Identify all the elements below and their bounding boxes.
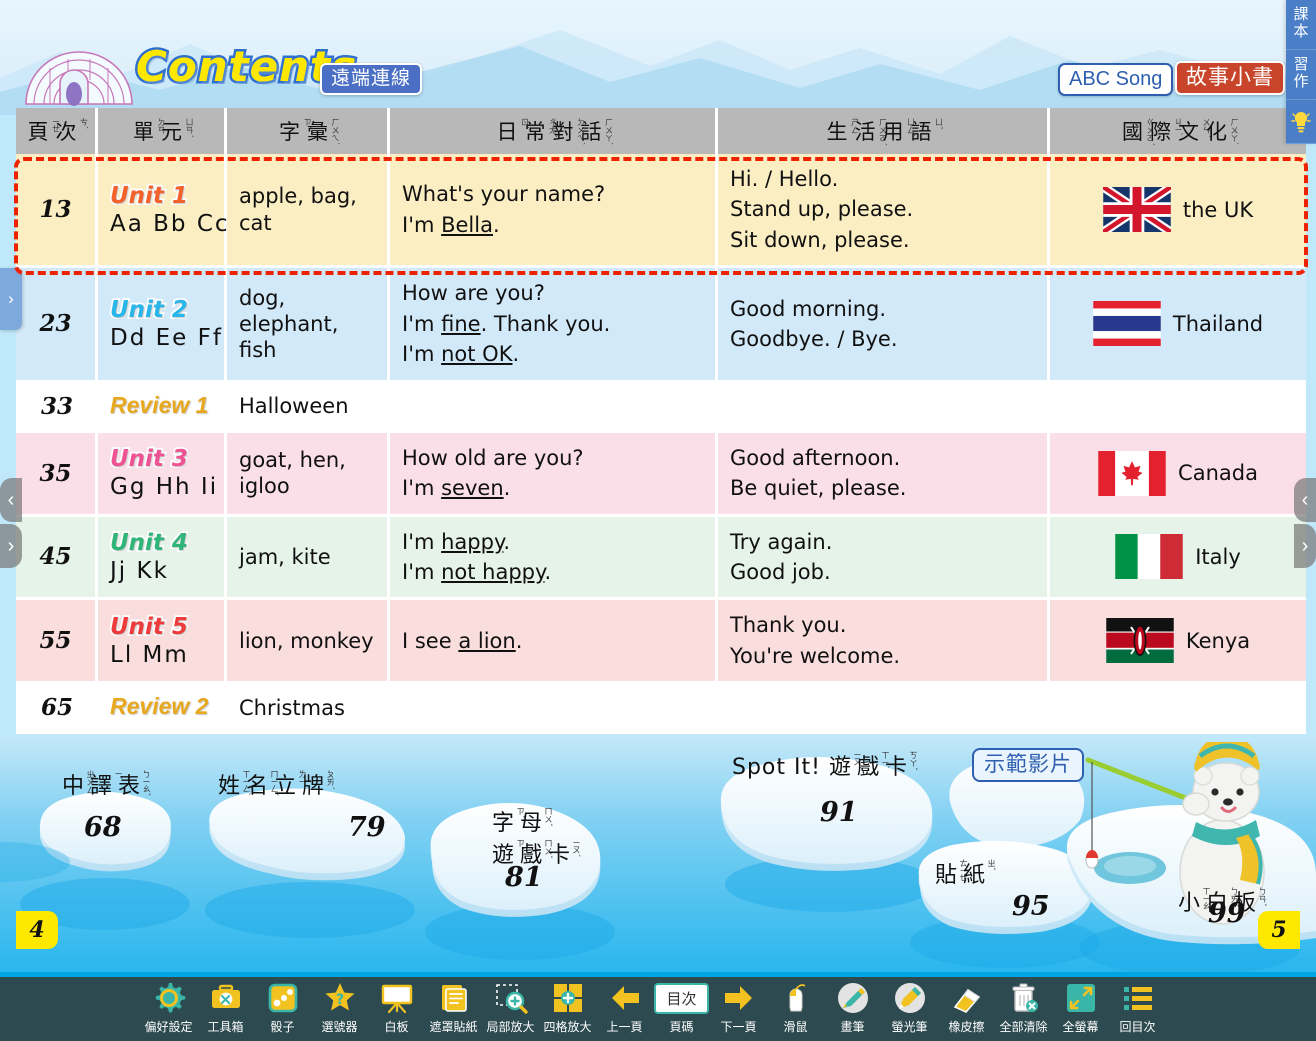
row-unit-cell: Unit 1Aa Bb Cc <box>98 154 227 265</box>
igloo-logo <box>20 18 138 110</box>
sidebar-tab-hint[interactable] <box>1286 100 1316 144</box>
toolbar-button-quad-zoom[interactable]: 四格放大 <box>539 977 596 1035</box>
flag-italy-icon <box>1115 534 1183 579</box>
row-dialogue: How are you?I'm fine. Thank you.I'm not … <box>390 268 718 379</box>
floe-page-number: 81 <box>505 862 543 893</box>
row-unit-name: Review 2 <box>98 684 227 731</box>
next-page-arrow-right[interactable]: › <box>1294 524 1316 568</box>
table-column-header-6: 國ㄍㄨㄛˊ際ㄐㄧˋ文ㄨㄣˊ化ㄏㄨㄚˋ <box>1050 108 1306 154</box>
row-page-number: 55 <box>16 600 98 681</box>
toolbar-button-label: 上一頁 <box>606 1018 642 1035</box>
row-dialogue: I see a lion. <box>390 600 718 681</box>
toolbar-button-label: 白板 <box>384 1018 408 1035</box>
toolbar-button-highlighter[interactable]: 螢光筆 <box>881 977 938 1035</box>
floe-page-number: 95 <box>1012 891 1050 922</box>
fullscreen-icon <box>1064 981 1098 1015</box>
toolbar-button-label: 橡皮擦 <box>948 1018 984 1035</box>
toolbar-button-list[interactable]: 回目次 <box>1109 977 1166 1035</box>
toolbar-button-label: 回目次 <box>1119 1018 1155 1035</box>
floe-label[interactable]: Spot It! 遊ㄧㄡˊ戲ㄒㄧˋ卡ㄎㄚˇ <box>732 749 913 781</box>
page-number-badge: 目次 <box>654 983 708 1014</box>
row-culture: Kenya <box>1050 600 1306 681</box>
toolbox-icon <box>209 980 243 1016</box>
corner-page-left: 4 <box>16 911 58 949</box>
table-row[interactable]: 33Review 1Halloween <box>16 383 1306 433</box>
story-book-button[interactable]: 故事小書 <box>1175 61 1285 95</box>
floe-label[interactable]: 字ㄗˋ母ㄇㄨˇ遊ㄗˋ戲ㄇㄨˇ卡ㄧㄡˊ <box>492 805 576 869</box>
row-vocabulary: apple, bag, cat <box>227 154 390 265</box>
table-column-header-5: 生ㄕㄥ活ㄏㄨㄛˊ用ㄩㄥˋ語ㄩˇ <box>718 108 1050 154</box>
toolbar-button-page-number[interactable]: 目次頁碼 <box>653 977 710 1035</box>
gear-icon <box>152 981 186 1015</box>
row-unit-cell: Unit 4Jj Kk <box>98 517 227 598</box>
page-canvas: Contents Contents 遠端連線 ABC Song 故事小書 頁ㄧㄝ… <box>0 0 1316 1041</box>
corner-page-right: 5 <box>1258 911 1300 949</box>
highlighter-icon <box>893 980 927 1016</box>
trash-clear-icon <box>1007 981 1041 1015</box>
arrow-right-icon <box>722 981 756 1015</box>
toolbar-button-label: 下一頁 <box>720 1018 756 1035</box>
toolbar-button-zoom-region[interactable]: 局部放大 <box>482 977 539 1035</box>
row-vocabulary: dog, elephant, fish <box>227 268 390 379</box>
toolbar-button-label: 選號器 <box>321 1018 357 1035</box>
table-row[interactable]: 55Unit 5Ll Mmlion, monkeyI see a lion.Th… <box>16 600 1306 684</box>
row-life-language: Hi. / Hello.Stand up, please.Sit down, p… <box>718 154 1050 265</box>
arrow-left-icon <box>608 981 642 1015</box>
fullscreen-icon <box>1064 980 1098 1016</box>
table-row[interactable]: 35Unit 3Gg Hh Iigoat, hen, iglooHow old … <box>16 433 1306 517</box>
row-vocabulary: goat, hen, igloo <box>227 433 390 514</box>
lightbulb-icon <box>1291 110 1311 134</box>
dice-icon <box>266 980 300 1016</box>
row-page-number: 35 <box>16 433 98 514</box>
toolbox-icon <box>209 981 243 1015</box>
toolbar-button-fullscreen[interactable]: 全螢幕 <box>1052 977 1109 1035</box>
pen-icon <box>836 981 870 1015</box>
toolbar-button-pen[interactable]: 畫筆 <box>824 977 881 1035</box>
toolbar-button-label: 頁碼 <box>669 1018 693 1035</box>
toolbar-button-gear[interactable]: 偏好設定 <box>140 977 197 1035</box>
toolbar-button-label: 螢光筆 <box>891 1018 927 1035</box>
dice-icon <box>266 981 300 1015</box>
toolbar-button-label: 全部清除 <box>999 1018 1047 1035</box>
sidebar-tab-workbook[interactable]: 習作 <box>1286 50 1316 100</box>
floe-label[interactable]: 中ㄓㄨㄥ譯ㄧˋ表ㄅㄧㄠˇ <box>62 768 146 800</box>
row-review-topic: Christmas <box>227 684 357 731</box>
toolbar-button-arrow-left[interactable]: 上一頁 <box>596 977 653 1035</box>
toolbar-button-label: 全螢幕 <box>1062 1018 1098 1035</box>
floe-page-number: 99 <box>1208 898 1246 929</box>
ice-floes-illustration <box>0 742 1316 972</box>
whiteboard-icon <box>380 981 414 1015</box>
abc-song-button[interactable]: ABC Song <box>1058 63 1173 96</box>
row-dialogue: What's your name?I'm Bella. <box>390 154 718 265</box>
toolbar-button-whiteboard[interactable]: 白板 <box>368 977 425 1035</box>
toolbar-button-label: 偏好設定 <box>144 1018 192 1035</box>
zoom-region-icon <box>494 980 528 1016</box>
toolbar-button-label: 四格放大 <box>543 1018 591 1035</box>
arrow-left-icon <box>608 980 642 1016</box>
row-culture: Italy <box>1050 517 1306 598</box>
bottom-toolbar: 偏好設定工具箱骰子?選號器白板遮罩貼紙局部放大四格放大上一頁目次頁碼下一頁滑鼠畫… <box>0 972 1316 1041</box>
toolbar-button-label: 畫筆 <box>840 1018 864 1035</box>
mask-sticker-icon <box>437 980 471 1016</box>
highlighter-icon <box>893 981 927 1015</box>
contents-table: 頁ㄧㄝˋ次ㄘˋ單ㄉㄢ元ㄩㄢˊ字ㄗˋ彙ㄏㄨㄟˋ日ㄖˋ常ㄔㄤˊ對ㄉㄨㄟˋ話ㄏㄨㄚˋ生… <box>16 108 1306 734</box>
floe-label[interactable]: 貼ㄊㄧㄝ紙ㄓˇ <box>935 857 991 889</box>
toolbar-button-label: 局部放大 <box>486 1018 534 1035</box>
page-number-icon: 目次 <box>654 980 708 1016</box>
toolbar-button-toolbox[interactable]: 工具箱 <box>197 977 254 1035</box>
table-row[interactable]: 23Unit 2Dd Ee Ffdog, elephant, fishHow a… <box>16 268 1306 382</box>
toolbar-button-eraser[interactable]: 橡皮擦 <box>938 977 995 1035</box>
table-header-row: 頁ㄧㄝˋ次ㄘˋ單ㄉㄢ元ㄩㄢˊ字ㄗˋ彙ㄏㄨㄟˋ日ㄖˋ常ㄔㄤˊ對ㄉㄨㄟˋ話ㄏㄨㄚˋ生… <box>16 108 1306 154</box>
row-unit-cell: Unit 3Gg Hh Ii <box>98 433 227 514</box>
row-unit-name: Review 1 <box>98 383 227 430</box>
row-review-topic: Halloween <box>227 383 361 430</box>
row-culture: Canada <box>1050 433 1306 514</box>
eraser-icon <box>950 980 984 1016</box>
row-page-number: 13 <box>16 154 98 265</box>
row-unit-cell: Unit 2Dd Ee Ff <box>98 268 227 379</box>
toolbar-button-label: 遮罩貼紙 <box>429 1018 477 1035</box>
quad-zoom-icon <box>551 981 585 1015</box>
row-page-number: 65 <box>16 684 98 731</box>
pen-icon <box>836 980 870 1016</box>
row-life-language: Thank you.You're welcome. <box>718 600 1050 681</box>
row-life-language: Try again.Good job. <box>718 517 1050 598</box>
gear-icon <box>152 980 186 1016</box>
flag-uk-icon <box>1103 187 1171 232</box>
toolbar-button-arrow-right[interactable]: 下一頁 <box>710 977 767 1035</box>
mouse-icon <box>779 980 813 1016</box>
floe-label[interactable]: 姓ㄒㄧㄥˋ名ㄇㄧㄥˊ立ㄌㄧˋ牌ㄆㄞˊ <box>218 768 330 800</box>
eraser-icon <box>950 981 984 1015</box>
toolbar-button-trash-clear[interactable]: 全部清除 <box>995 977 1052 1035</box>
remote-connect-button[interactable]: 遠端連線 <box>320 63 422 95</box>
row-page-number: 33 <box>16 383 98 430</box>
next-page-arrow-left[interactable]: › <box>0 524 22 568</box>
row-page-number: 45 <box>16 517 98 598</box>
svg-text:?: ? <box>335 992 343 1008</box>
toolbar-button-dice[interactable]: 骰子 <box>254 977 311 1035</box>
toolbar-button-mask-sticker[interactable]: 遮罩貼紙 <box>425 977 482 1035</box>
row-page-number: 23 <box>16 268 98 379</box>
table-row[interactable]: 13Unit 1Aa Bb Ccapple, bag, catWhat's yo… <box>16 154 1306 268</box>
list-icon <box>1121 981 1155 1015</box>
row-culture: Thailand <box>1050 268 1306 379</box>
whiteboard-icon <box>380 980 414 1016</box>
table-column-header-2: 單ㄉㄢ元ㄩㄢˊ <box>98 108 227 154</box>
table-row[interactable]: 65Review 2Christmas <box>16 684 1306 734</box>
row-culture: the UK <box>1050 154 1306 265</box>
table-row[interactable]: 45Unit 4Jj Kkjam, kiteI'm happy.I'm not … <box>16 517 1306 601</box>
flag-kenya-icon <box>1106 618 1174 663</box>
demo-video-button[interactable]: 示範影片 <box>972 748 1084 782</box>
list-icon <box>1121 980 1155 1016</box>
toolbar-button-star-question[interactable]: ?選號器 <box>311 977 368 1035</box>
toolbar-button-label: 工具箱 <box>207 1018 243 1035</box>
floe-page-number: 79 <box>348 812 386 843</box>
row-vocabulary: lion, monkey <box>227 600 390 681</box>
floe-page-number: 91 <box>820 797 858 828</box>
toolbar-button-label: 骰子 <box>270 1018 294 1035</box>
toolbar-button-mouse[interactable]: 滑鼠 <box>767 977 824 1035</box>
zoom-region-icon <box>494 981 528 1015</box>
row-unit-cell: Unit 5Ll Mm <box>98 600 227 681</box>
flag-thailand-icon <box>1093 301 1161 346</box>
flag-canada-icon <box>1098 451 1166 496</box>
left-panel-flap[interactable]: › <box>0 268 22 330</box>
star-question-icon: ? <box>323 981 357 1015</box>
mouse-icon <box>779 981 813 1015</box>
arrow-right-icon <box>722 980 756 1016</box>
mask-sticker-icon <box>437 981 471 1015</box>
prev-page-arrow-left[interactable]: ‹ <box>0 478 22 522</box>
toolbar-button-label: 滑鼠 <box>783 1018 807 1035</box>
row-vocabulary: jam, kite <box>227 517 390 598</box>
star-question-icon: ? <box>323 980 357 1016</box>
table-column-header-4: 日ㄖˋ常ㄔㄤˊ對ㄉㄨㄟˋ話ㄏㄨㄚˋ <box>390 108 718 154</box>
row-dialogue: How old are you?I'm seven. <box>390 433 718 514</box>
trash-clear-icon <box>1007 980 1041 1016</box>
table-body: 13Unit 1Aa Bb Ccapple, bag, catWhat's yo… <box>16 154 1306 734</box>
prev-page-arrow-right[interactable]: ‹ <box>1294 478 1316 522</box>
table-column-header-3: 字ㄗˋ彙ㄏㄨㄟˋ <box>227 108 390 154</box>
row-dialogue: I'm happy.I'm not happy. <box>390 517 718 598</box>
sidebar-tab-textbook[interactable]: 課本 <box>1286 0 1316 50</box>
quad-zoom-icon <box>551 980 585 1016</box>
floe-page-number: 68 <box>84 812 122 843</box>
row-life-language: Good afternoon.Be quiet, please. <box>718 433 1050 514</box>
row-life-language: Good morning.Goodbye. / Bye. <box>718 268 1050 379</box>
table-column-header-1: 頁ㄧㄝˋ次ㄘˋ <box>16 108 98 154</box>
